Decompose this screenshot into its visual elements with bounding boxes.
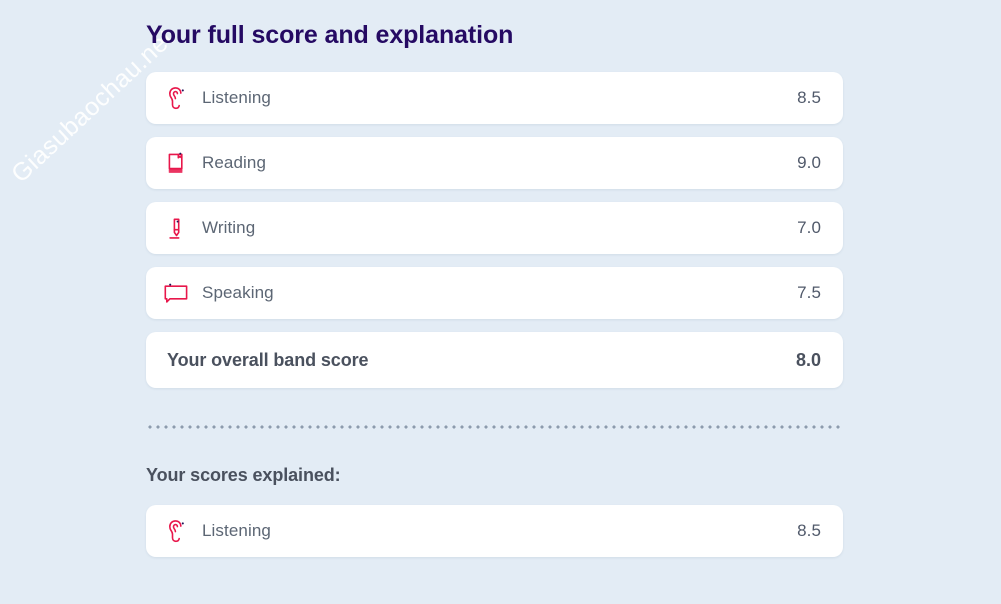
scores-explained-list: Listening 8.5 bbox=[146, 505, 843, 557]
skill-label: Listening bbox=[202, 521, 797, 541]
score-row-listening[interactable]: Listening 8.5 bbox=[146, 72, 843, 124]
skill-score: 7.0 bbox=[797, 218, 843, 238]
results-page: Giasubaochau.net Your full score and exp… bbox=[0, 0, 1001, 604]
page-title: Your full score and explanation bbox=[146, 0, 843, 51]
ear-icon bbox=[146, 87, 202, 110]
score-row-writing[interactable]: Writing 7.0 bbox=[146, 202, 843, 254]
skill-label: Reading bbox=[202, 153, 797, 173]
ear-icon bbox=[146, 520, 202, 543]
overall-band-score-row: Your overall band score 8.0 bbox=[146, 332, 843, 388]
overall-band-score-label: Your overall band score bbox=[146, 350, 796, 371]
skill-label: Writing bbox=[202, 218, 797, 238]
pen-icon bbox=[146, 217, 202, 240]
overall-band-score-value: 8.0 bbox=[796, 350, 843, 371]
speech-bubble-icon bbox=[146, 282, 202, 305]
explained-row-listening[interactable]: Listening 8.5 bbox=[146, 505, 843, 557]
score-row-speaking[interactable]: Speaking 7.5 bbox=[146, 267, 843, 319]
book-icon bbox=[146, 152, 202, 175]
content-column: Your full score and explanation Listenin… bbox=[146, 0, 843, 570]
scores-explained-title: Your scores explained: bbox=[146, 429, 843, 486]
skill-label: Listening bbox=[202, 88, 797, 108]
skill-score: 9.0 bbox=[797, 153, 843, 173]
skill-score: 8.5 bbox=[797, 88, 843, 108]
score-row-reading[interactable]: Reading 9.0 bbox=[146, 137, 843, 189]
score-card-list: Listening 8.5 Reading 9.0 bbox=[146, 72, 843, 388]
skill-label: Speaking bbox=[202, 283, 797, 303]
skill-score: 8.5 bbox=[797, 521, 843, 541]
skill-score: 7.5 bbox=[797, 283, 843, 303]
